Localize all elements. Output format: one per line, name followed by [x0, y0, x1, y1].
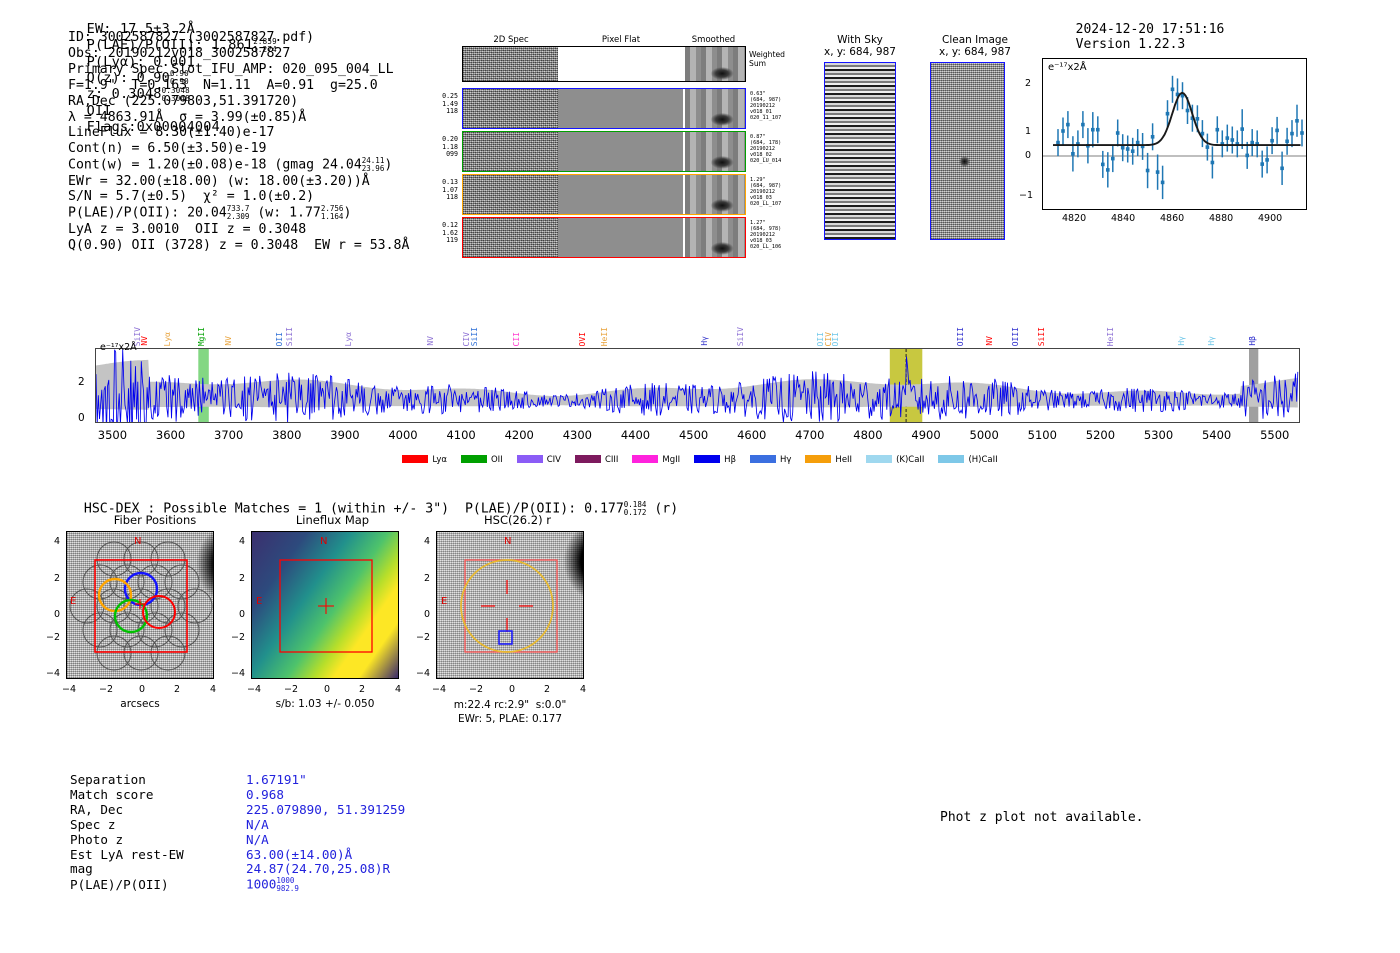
cutout-clean-image[interactable]	[930, 62, 1005, 240]
fiber-xtick-0: 0	[131, 684, 153, 695]
spectrum-xtick-5200: 5200	[1082, 428, 1118, 442]
info-line-2: Primary Spec_Slot_IFU_AMP: 020_095_004_L…	[68, 62, 409, 78]
spectrum-ytick-0: 0	[78, 412, 85, 424]
fit-ytick-neg1: −1	[1019, 190, 1033, 201]
emission-line-label-7: Lyα	[344, 332, 353, 346]
spectrum-xtick-4300: 4300	[559, 428, 595, 442]
fiber-1-2dspec	[463, 89, 558, 128]
fiber-positions-image[interactable]	[66, 531, 214, 679]
hsc-plae-range: 0.1840.172	[624, 501, 647, 517]
fiber-xtick-2: 2	[166, 684, 188, 695]
fiber-positions-overlay	[67, 532, 213, 678]
table-value-0: 1.67191"	[246, 772, 307, 787]
spectrum-xtick-4900: 4900	[908, 428, 944, 442]
fiber-3-pixelflat	[558, 175, 683, 214]
legend-item-HCaII: (H)CaII	[938, 455, 997, 465]
table-value-4: N/A	[246, 832, 269, 847]
legend-swatch-8	[866, 455, 892, 463]
fiber-xtick-neg4: −4	[56, 684, 82, 695]
weighted-sum-2dspec	[463, 47, 558, 81]
legend-label-4: MgII	[662, 455, 680, 465]
compass-north-lineflux: N	[320, 536, 327, 547]
fit-ytick-1: 1	[1025, 126, 1031, 137]
lineflux-ytick-neg4: −4	[215, 668, 245, 679]
emission-line-label-12: OVI	[578, 332, 587, 346]
legend-label-5: Hβ	[724, 455, 736, 465]
legend-label-3: CIII	[605, 455, 618, 465]
spectrum-ytick-2: 2	[78, 376, 85, 388]
hsc-r-overlay	[437, 532, 583, 678]
emission-line-label-5: OII	[275, 332, 284, 346]
legend-label-9: (H)CaII	[968, 455, 997, 465]
emission-line-label-20: NV	[985, 336, 994, 346]
table-key-4: Photo z	[70, 833, 246, 848]
table-value-6: 24.87(24.70,25.08)R	[246, 861, 390, 876]
info-line-7: Cont(n) = 6.50(±3.50)e-19	[68, 141, 409, 157]
emission-line-label-21: OIII	[1011, 327, 1020, 346]
fiber-ytick-2: 2	[36, 573, 60, 584]
lineflux-xtick-2: 2	[351, 684, 373, 695]
emission-line-label-22: SiII	[1037, 327, 1046, 346]
emission-line-label-23: HeII	[1106, 327, 1115, 346]
lineflux-map-image[interactable]	[251, 531, 399, 679]
cutout-withsky-coords: x, y: 684, 987	[815, 46, 905, 58]
emission-line-label-14: Hγ	[700, 336, 709, 346]
info-line-6: LineFlux = 8.30(±1.40)e-17	[68, 125, 409, 141]
emission-line-label-8: NV	[426, 336, 435, 346]
fiber-2-left-stats: 0.20 1.18 099	[420, 136, 458, 159]
table-row: Photo zN/A	[70, 833, 405, 848]
hsc-ytick-0: 0	[406, 609, 430, 620]
lineflux-xtick-neg4: −4	[241, 684, 267, 695]
lineflux-caption: s/b: 1.03 +/- 0.050	[251, 698, 399, 710]
legend-item-OII: OII	[461, 455, 503, 465]
legend-item-HeII: HeII	[805, 455, 852, 465]
fiber-1-smoothed	[685, 89, 745, 128]
hsc-ytick-4: 4	[406, 536, 430, 547]
legend-item-Lyα: Lyα	[402, 455, 447, 465]
info-plae: P(LAE)/P(OII): 20.04733.72.309 (w: 1.772…	[68, 205, 409, 221]
fiber-1-right-meta: 0.63" (684, 987) 20190212 v018_01 020_11…	[750, 92, 781, 122]
legend-label-1: OII	[491, 455, 503, 465]
emission-line-label-18: OII	[831, 332, 840, 346]
legend-item-MgII: MgII	[632, 455, 680, 465]
lineflux-xtick-0: 0	[316, 684, 338, 695]
spectrum-xtick-5100: 5100	[1024, 428, 1060, 442]
spectrum-xtick-4700: 4700	[792, 428, 828, 442]
fiber-1-pixelflat	[558, 89, 683, 128]
compass-east-lineflux: E	[256, 596, 262, 607]
fiber-3-smoothed	[685, 175, 745, 214]
lineflux-xtick-4: 4	[387, 684, 409, 695]
fiber-2-2dspec	[463, 132, 558, 171]
col-title-2dspec: 2D Spec	[476, 35, 546, 45]
legend-swatch-2	[517, 455, 543, 463]
header-timestamp-version: 2024-12-20 17:51:16 Version 1.22.3	[1060, 7, 1240, 52]
hsc-xtick-2: 2	[536, 684, 558, 695]
compass-north-fiber: N	[134, 536, 141, 547]
legend-label-6: Hγ	[780, 455, 791, 465]
panel-title-lineflux-map: Lineflux Map	[245, 513, 420, 527]
table-row: Spec zN/A	[70, 818, 405, 833]
legend-item-KCaII: (K)CaII	[866, 455, 924, 465]
info-contw: Cont(w) = 1.20(±0.08)e-18 (gmag 24.0424.…	[68, 157, 409, 173]
table-value-5: 63.00(±14.00)Å	[246, 847, 352, 862]
match-details-table: Separation1.67191"Match score0.968RA, De…	[70, 773, 405, 893]
table-value-2: 225.079890, 51.391259	[246, 802, 405, 817]
fiber-row-3[interactable]	[462, 174, 746, 215]
emission-line-label-1: NV	[140, 336, 149, 346]
compass-east-hsc: E	[441, 596, 447, 607]
hsc-xtick-neg4: −4	[426, 684, 452, 695]
legend-item-CIII: CIII	[575, 455, 618, 465]
fiber-1-left-stats: 0.25 1.49 118	[420, 93, 458, 116]
table-key-1: Match score	[70, 788, 246, 803]
legend-swatch-6	[750, 455, 776, 463]
spectrum-xtick-5400: 5400	[1199, 428, 1235, 442]
table-row: mag24.87(24.70,25.08)R	[70, 862, 405, 877]
weighted-sum-pixelflat	[558, 47, 683, 81]
legend-swatch-7	[805, 455, 831, 463]
col-title-pixelflat: Pixel Flat	[586, 35, 656, 45]
weighted-sum-row	[462, 46, 746, 82]
fiber-row-1[interactable]	[462, 88, 746, 129]
info-ewr: EWr = 32.00(±18.00) (w: 18.00(±3.20))Å	[68, 174, 409, 190]
info-zline1: LyA z = 3.0010 OII z = 0.3048	[68, 222, 409, 238]
lineflux-ytick-4: 4	[221, 536, 245, 547]
table-key-6: mag	[70, 862, 246, 877]
spectrum-xtick-5000: 5000	[966, 428, 1002, 442]
legend-swatch-9	[938, 455, 964, 463]
table-row: Est LyA rest-EW63.00(±14.00)Å	[70, 848, 405, 863]
emission-line-label-13: HeII	[600, 327, 609, 346]
panel-title-hsc-r: HSC(26.2) r	[430, 513, 605, 527]
full-spectrum-plot[interactable]	[95, 348, 1300, 423]
fiber-2-right-meta: 0.87" (684, 178) 20190212 v018_02 020_LU…	[750, 135, 781, 165]
table-row: RA, Dec225.079890, 51.391259	[70, 803, 405, 818]
emission-line-label-25: Hγ	[1207, 336, 1216, 346]
line-fit-plot[interactable]	[1042, 58, 1307, 210]
legend-label-2: CIV	[547, 455, 561, 465]
fiber-4-right-meta: 1.27" (684, 978) 20190212 v018_03 020_LL…	[750, 221, 781, 251]
fit-xtick-4880: 4880	[1209, 213, 1233, 224]
spectrum-xtick-5300: 5300	[1141, 428, 1177, 442]
fit-xtick-4840: 4840	[1111, 213, 1135, 224]
fiber-4-pixelflat	[558, 218, 683, 257]
spectrum-xtick-4600: 4600	[734, 428, 770, 442]
hsc-headline-filter: (r)	[654, 501, 678, 516]
spectrum-xtick-3600: 3600	[153, 428, 189, 442]
info-line-0: ID: 3002587827 (3002587827.pdf)	[68, 30, 409, 46]
emission-line-labels: SiIV(NV(Lyα(MgII(NV(OII(SiII(Lyα(NV(CIV(…	[95, 283, 1300, 348]
fit-ytick-2: 2	[1025, 78, 1031, 89]
table-value-3: N/A	[246, 817, 269, 832]
weighted-sum-label: Weighted Sum	[749, 50, 785, 68]
fiber-row-4[interactable]	[462, 217, 746, 258]
spectrum-xtick-3500: 3500	[94, 428, 130, 442]
emission-line-label-26: Hβ	[1248, 336, 1257, 346]
spectrum-legend: LyαOIICIVCIIIMgIIHβHγHeII(K)CaII(H)CaII	[0, 455, 1400, 465]
hsc-xtick-neg2: −2	[463, 684, 489, 695]
info-sn: S/N = 5.7(±0.5) χ² = 1.0(±0.2)	[68, 189, 409, 205]
line-fit-svg	[1043, 59, 1306, 209]
spectrum-xtick-4800: 4800	[850, 428, 886, 442]
spectrum-units-label: e⁻¹⁷x2Å	[100, 342, 137, 353]
fiber-2-smoothed	[685, 132, 745, 171]
legend-swatch-3	[575, 455, 601, 463]
fiber-xtick-4: 4	[202, 684, 224, 695]
col-title-smoothed: Smoothed	[676, 35, 751, 45]
legend-item-Hγ: Hγ	[750, 455, 791, 465]
table-key-2: RA, Dec	[70, 803, 246, 818]
compass-east-fiber: E	[70, 596, 76, 607]
fiber-4-left-stats: 0.12 1.62 119	[420, 222, 458, 245]
fit-xtick-4820: 4820	[1062, 213, 1086, 224]
emission-line-label-24: Hγ	[1177, 336, 1186, 346]
cutout-clean-coords: x, y: 684, 987	[925, 46, 1025, 58]
hsc-ytick-2: 2	[406, 573, 430, 584]
table-row: Match score0.968	[70, 788, 405, 803]
table-key-7: P(LAE)/P(OII)	[70, 878, 246, 893]
fiber-ytick-neg2: −2	[30, 632, 60, 643]
fit-ytick-0: 0	[1025, 150, 1031, 161]
lineflux-map-overlay	[252, 532, 398, 678]
info-line-3: F=1.9" T=0.163 N=1.11 A=0.91 g=25.0	[68, 78, 409, 94]
legend-label-0: Lyα	[432, 455, 447, 465]
spectrum-xtick-5500: 5500	[1257, 428, 1293, 442]
photz-unavailable-note: Phot z plot not available.	[940, 810, 1144, 825]
spectrum-xtick-3800: 3800	[269, 428, 305, 442]
hsc-r-image[interactable]	[436, 531, 584, 679]
spectrum-xtick-3900: 3900	[327, 428, 363, 442]
fit-xtick-4860: 4860	[1160, 213, 1184, 224]
hsc-xtick-4: 4	[572, 684, 594, 695]
table-key-5: Est LyA rest-EW	[70, 848, 246, 863]
info-line-4: RA,Dec (225.079803,51.391720)	[68, 94, 409, 110]
emission-line-label-11: CII	[512, 332, 521, 346]
fiber-ytick-4: 4	[36, 536, 60, 547]
hsc-ytick-neg4: −4	[400, 668, 430, 679]
spectrum-xtick-4100: 4100	[443, 428, 479, 442]
compass-north-hsc: N	[504, 536, 511, 547]
fiber-xtick-neg2: −2	[93, 684, 119, 695]
cutout-clean-title: Clean Image	[925, 34, 1025, 46]
table-value-1: 0.968	[246, 787, 284, 802]
fiber-3-2dspec	[463, 175, 558, 214]
fiber-4-smoothed	[685, 218, 745, 257]
emission-line-label-6: SiII	[285, 327, 294, 346]
lineflux-ytick-2: 2	[221, 573, 245, 584]
fit-xtick-4900: 4900	[1258, 213, 1282, 224]
lineflux-xtick-neg2: −2	[278, 684, 304, 695]
contw-range: 24.1123.96	[362, 157, 385, 173]
legend-item-CIV: CIV	[517, 455, 561, 465]
panel-title-fiber-positions: Fiber Positions	[60, 513, 250, 527]
table-row: Separation1.67191"	[70, 773, 405, 788]
info-plae-w-range: 2.7561.164	[321, 205, 344, 221]
table-key-3: Spec z	[70, 818, 246, 833]
weighted-sum-smoothed	[685, 47, 745, 81]
lineflux-ytick-neg2: −2	[215, 632, 245, 643]
fiber-3-left-stats: 0.13 1.07 118	[420, 179, 458, 202]
emission-line-label-15: SiIV	[736, 327, 745, 346]
fiber-row-2[interactable]	[462, 131, 746, 172]
fiber-2-pixelflat	[558, 132, 683, 171]
hsc-caption: m:22.4 rc:2.9" s:0.0" EWr: 5, PLAE: 0.17…	[430, 698, 590, 726]
timestamp: 2024-12-20 17:51:16	[1076, 22, 1225, 37]
cutout-with-sky-image[interactable]	[824, 62, 896, 240]
spectrum-xtick-4500: 4500	[676, 428, 712, 442]
fiber-4-2dspec	[463, 218, 558, 257]
spectrum-xtick-4200: 4200	[501, 428, 537, 442]
table-row: P(LAE)/P(OII)10001000982.9	[70, 877, 405, 893]
spectrum-xtick-4000: 4000	[385, 428, 421, 442]
legend-item-Hβ: Hβ	[694, 455, 736, 465]
emission-line-label-3: MgII	[197, 327, 206, 346]
legend-swatch-1	[461, 455, 487, 463]
fiber-xlabel: arcsecs	[66, 698, 214, 710]
table-value-range-7: 1000982.9	[276, 877, 299, 893]
legend-swatch-0	[402, 455, 428, 463]
emission-line-label-2: Lyα	[163, 332, 172, 346]
fit-units-label: e⁻¹⁷x2Å	[1048, 62, 1087, 73]
fiber-ytick-0: 0	[36, 609, 60, 620]
legend-swatch-4	[632, 455, 658, 463]
table-key-0: Separation	[70, 773, 246, 788]
hsc-ytick-neg2: −2	[400, 632, 430, 643]
hsc-xtick-0: 0	[501, 684, 523, 695]
legend-label-7: HeII	[835, 455, 852, 465]
cutout-withsky-title: With Sky	[815, 34, 905, 46]
fiber-ytick-neg4: −4	[30, 668, 60, 679]
emission-line-label-4: NV	[224, 336, 233, 346]
emission-line-label-19: OIII	[956, 327, 965, 346]
info-plae-range: 733.72.309	[227, 205, 250, 221]
info-zline2: Q(0.90) OII (3728) z = 0.3048 EW r = 53.…	[68, 238, 409, 254]
legend-label-8: (K)CaII	[896, 455, 924, 465]
table-value-7: 1000	[246, 877, 276, 892]
spectrum-xtick-4400: 4400	[617, 428, 653, 442]
source-info-block: ID: 3002587827 (3002587827.pdf) Obs: 201…	[68, 30, 409, 253]
full-spectrum-svg	[96, 349, 1299, 422]
info-line-5: λ = 4863.91Å σ = 3.99(±0.85)Å	[68, 110, 409, 126]
version: Version 1.22.3	[1076, 37, 1186, 52]
info-line-1: Obs: 20190212v018_3002587827	[68, 46, 409, 62]
emission-line-label-10: SiII	[470, 327, 479, 346]
lineflux-ytick-0: 0	[221, 609, 245, 620]
spectrum-xtick-3700: 3700	[211, 428, 247, 442]
legend-swatch-5	[694, 455, 720, 463]
fiber-3-right-meta: 1.29" (684, 987) 20190212 v018_03 020_LL…	[750, 178, 781, 208]
